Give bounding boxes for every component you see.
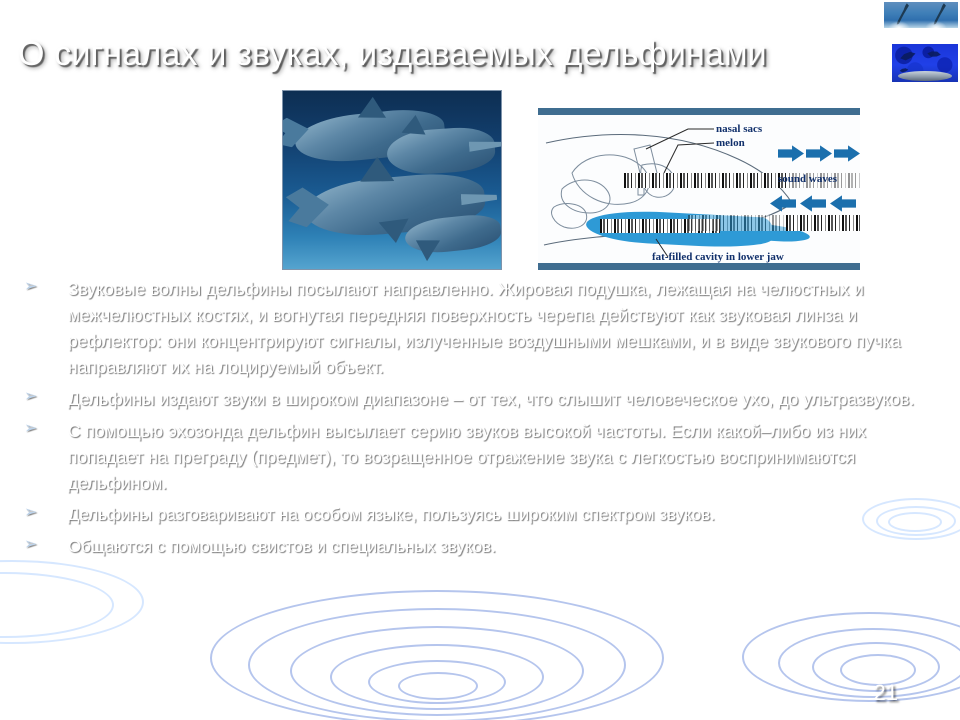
label-melon: melon: [716, 137, 745, 149]
page-title: О сигналах и звуках, издаваемых дельфина…: [18, 34, 888, 74]
bullet-list: ➢ Звуковые волны дельфины посылают напра…: [16, 276, 946, 566]
list-item: ➢ Звуковые волны дельфины посылают напра…: [16, 276, 946, 380]
bullet-arrow-icon: ➢: [16, 386, 68, 408]
bullet-text: С помощью эхозонда дельфин высылает сери…: [68, 418, 946, 496]
bullet-arrow-icon: ➢: [16, 276, 68, 298]
dolphins-swimming-photo: [282, 90, 502, 270]
label-nasal-sacs: nasal sacs: [716, 123, 762, 135]
list-item: ➢ С помощью эхозонда дельфин высылает се…: [16, 418, 946, 496]
diagram-leader-lines: [538, 115, 860, 265]
bullet-text: Звуковые волны дельфины посылают направл…: [68, 276, 946, 380]
bullet-arrow-icon: ➢: [16, 534, 68, 556]
list-item: ➢ Дельфины разговаривают на особом языке…: [16, 502, 946, 528]
bullet-text: Дельфины издают звуки в широком диапазон…: [68, 386, 946, 412]
bullet-text: Дельфины разговаривают на особом языке, …: [68, 502, 946, 528]
list-item: ➢ Общаются с помощью свистов и специальн…: [16, 534, 946, 560]
bullet-arrow-icon: ➢: [16, 502, 68, 524]
label-fat-filled-cavity: fat-filled cavity in lower jaw: [652, 251, 784, 263]
page-number: 21: [874, 680, 898, 706]
bullet-arrow-icon: ➢: [16, 418, 68, 440]
blue-underwater-scene-thumbnail: [892, 44, 958, 82]
list-item: ➢ Дельфины издают звуки в широком диапаз…: [16, 386, 946, 412]
jumping-dolphins-thumbnail: [884, 2, 958, 28]
slide-canvas: О сигналах и звуках, издаваемых дельфина…: [0, 0, 960, 720]
bullet-text: Общаются с помощью свистов и специальных…: [68, 534, 946, 560]
label-sound-waves: sound waves: [778, 173, 837, 185]
echolocation-anatomy-diagram: nasal sacs melon sound waves fat-filled …: [538, 108, 860, 270]
